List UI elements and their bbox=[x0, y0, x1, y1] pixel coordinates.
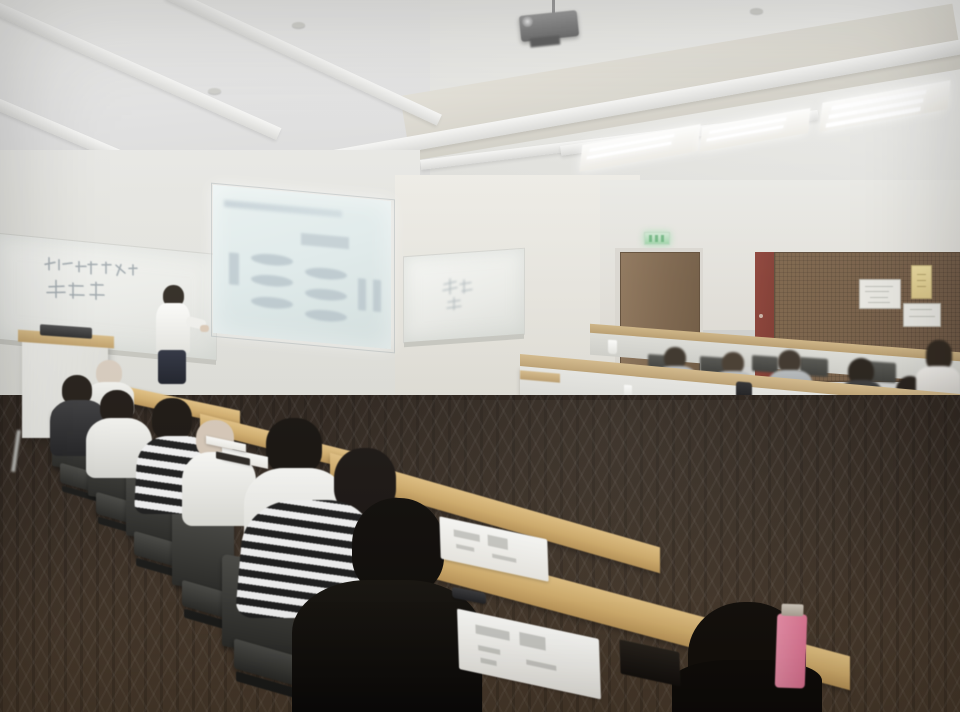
right-whiteboard bbox=[403, 248, 525, 344]
presenter-hand bbox=[200, 325, 209, 332]
chair-back[interactable] bbox=[752, 355, 778, 373]
notice-white-left bbox=[859, 279, 901, 309]
exit-sign bbox=[644, 232, 670, 245]
paper-cup[interactable] bbox=[608, 340, 617, 355]
notice-yellow bbox=[911, 265, 932, 299]
handwriting-strokes bbox=[39, 252, 149, 321]
pink-thermos[interactable] bbox=[775, 613, 808, 688]
handwriting-strokes bbox=[438, 274, 484, 317]
projection-screen-frame bbox=[211, 183, 395, 354]
classroom-photo bbox=[0, 0, 960, 712]
notice-white-lower bbox=[903, 303, 941, 327]
smoke-detector-icon bbox=[208, 88, 221, 94]
thermos-cap[interactable] bbox=[781, 604, 803, 617]
smoke-detector-icon bbox=[292, 22, 305, 28]
smoke-detector-icon bbox=[750, 8, 763, 14]
presenter-legs bbox=[158, 350, 186, 384]
door-knob-icon[interactable] bbox=[759, 314, 763, 318]
